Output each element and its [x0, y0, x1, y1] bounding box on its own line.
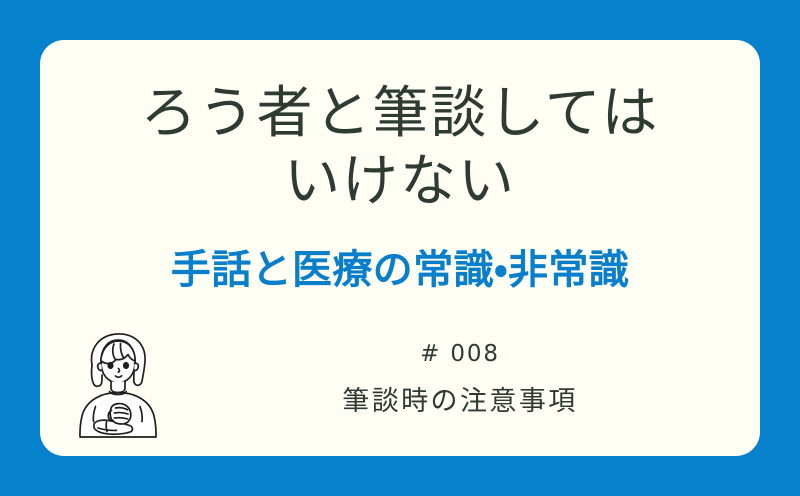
page-title: ろう者と筆談しては いけない	[40, 80, 760, 217]
person-signing-illustration	[62, 324, 182, 444]
title-line-1: ろう者と筆談しては	[40, 80, 760, 148]
poster-canvas: ろう者と筆談しては いけない 手話と医療の常識・非常識	[0, 0, 800, 496]
title-card: ろう者と筆談しては いけない 手話と医療の常識・非常識	[40, 40, 760, 456]
bottom-row: # 008 筆談時の注意事項	[40, 322, 760, 442]
title-line-2: いけない	[40, 148, 760, 216]
episode-number: # 008	[190, 340, 730, 370]
episode-caption: 筆談時の注意事項	[190, 384, 730, 419]
page-subtitle: 手話と医療の常識・非常識	[40, 246, 760, 294]
episode-block: # 008 筆談時の注意事項	[190, 340, 730, 419]
